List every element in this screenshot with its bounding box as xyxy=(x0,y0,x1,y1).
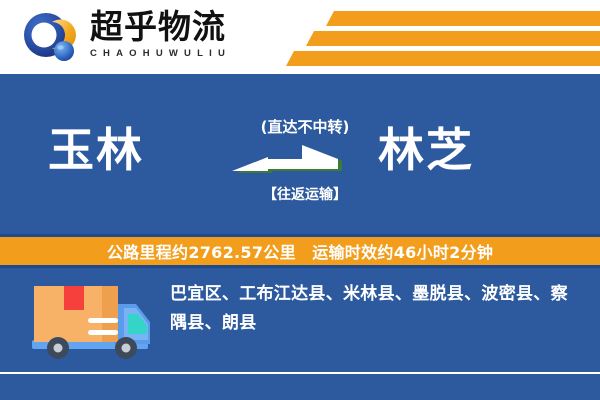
header-bar: 超乎物流 CHAOHUWULIU xyxy=(0,0,600,74)
decorative-stripe-3 xyxy=(286,51,600,66)
coverage-section: 巴宜区、工布江达县、米林县、墨脱县、波密县、察隅县、朗县 xyxy=(0,270,600,370)
route-note-roundtrip: 【往返运输】 xyxy=(225,184,385,204)
route-note-direct: (直达不中转) xyxy=(230,116,380,137)
distance-duration-text: 公路里程约2762.57公里 运输时效约46小时2分钟 xyxy=(107,239,493,263)
brand-pinyin: CHAOHUWULIU xyxy=(90,48,290,60)
double-headed-arrow-icon xyxy=(228,144,384,180)
brand-block: 超乎物流 CHAOHUWULIU xyxy=(90,8,290,60)
logistics-route-banner: 超乎物流 CHAOHUWULIU 玉林 林芝 (直达不中转) xyxy=(0,0,600,400)
decorative-stripe-1 xyxy=(326,11,600,26)
destination-city: 林芝 xyxy=(378,124,558,176)
circle-crescent-logo-icon xyxy=(22,12,78,64)
decorative-stripe-2 xyxy=(306,31,600,46)
delivery-truck-icon xyxy=(28,278,160,364)
bottom-divider xyxy=(0,372,600,374)
distance-duration-band: 公路里程约2762.57公里 运输时效约46小时2分钟 xyxy=(0,234,600,268)
distance-duration-band-inner: 公路里程约2762.57公里 运输时效约46小时2分钟 xyxy=(0,237,600,265)
brand-name: 超乎物流 xyxy=(90,8,290,46)
coverage-areas-text: 巴宜区、工布江达县、米林县、墨脱县、波密县、察隅县、朗县 xyxy=(170,280,582,338)
body-panel: 玉林 林芝 (直达不中转) 【往返运输】 xyxy=(0,74,600,400)
route-section: 玉林 林芝 (直达不中转) 【往返运输】 xyxy=(0,74,600,236)
origin-city: 玉林 xyxy=(48,124,228,176)
